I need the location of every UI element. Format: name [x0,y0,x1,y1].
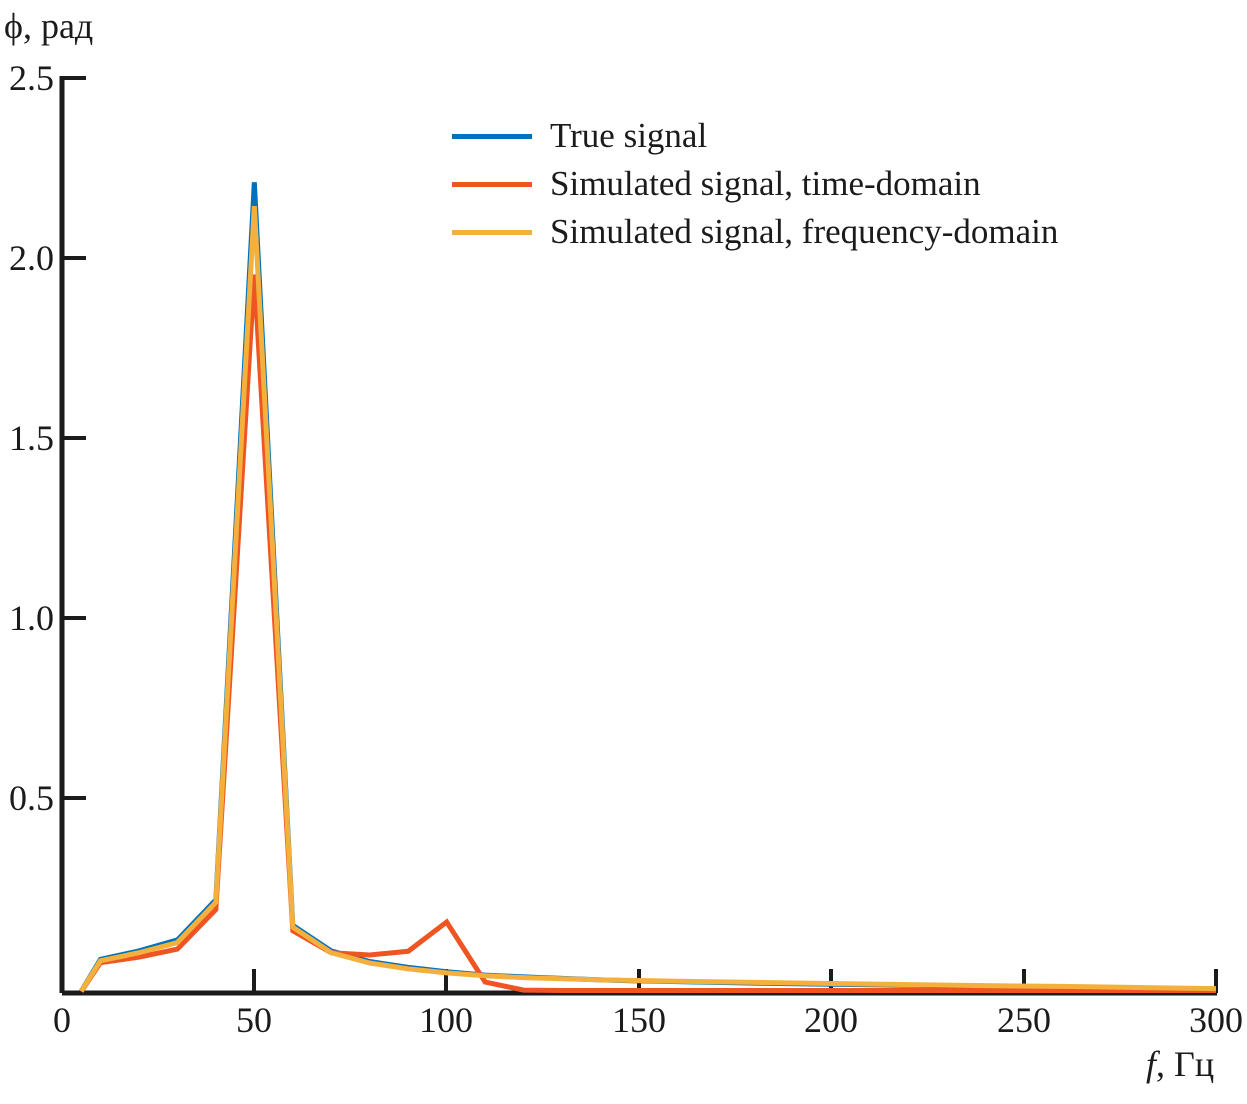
legend-item-simulated-time-domain: Simulated signal, time-domain [452,160,1058,208]
x-tick-label-200: 200 [771,1002,891,1038]
y-tick-label-1_0: 1.0 [0,600,54,636]
legend-label-simulated-time-domain: Simulated signal, time-domain [550,166,981,202]
x-tick-label-0: 0 [2,1002,122,1038]
y-axis-ticks [62,78,86,798]
legend-item-true-signal: True signal [452,112,1058,160]
legend: True signal Simulated signal, time-domai… [452,112,1058,256]
y-tick-label-2_0: 2.0 [0,240,54,276]
x-tick-label-100: 100 [386,1002,506,1038]
y-tick-label-1_5: 1.5 [0,420,54,456]
x-tick-label-50: 50 [194,1002,314,1038]
series-group [81,182,1216,991]
legend-label-simulated-frequency-domain: Simulated signal, frequency-domain [550,214,1058,250]
legend-label-true-signal: True signal [550,118,707,154]
x-tick-label-300: 300 [1156,1002,1247,1038]
chart-figure: ϕ, рад f, Гц [0,0,1247,1104]
y-tick-label-2_5: 2.5 [0,60,54,96]
y-tick-label-0_5: 0.5 [0,780,54,816]
legend-swatch-simulated-time-domain [452,182,532,187]
legend-item-simulated-frequency-domain: Simulated signal, frequency-domain [452,208,1058,256]
legend-swatch-true-signal [452,134,532,139]
legend-swatch-simulated-frequency-domain [452,230,532,235]
x-tick-label-150: 150 [579,1002,699,1038]
x-tick-label-250: 250 [964,1002,1084,1038]
series-line-simulated-time-domain [81,275,1216,992]
